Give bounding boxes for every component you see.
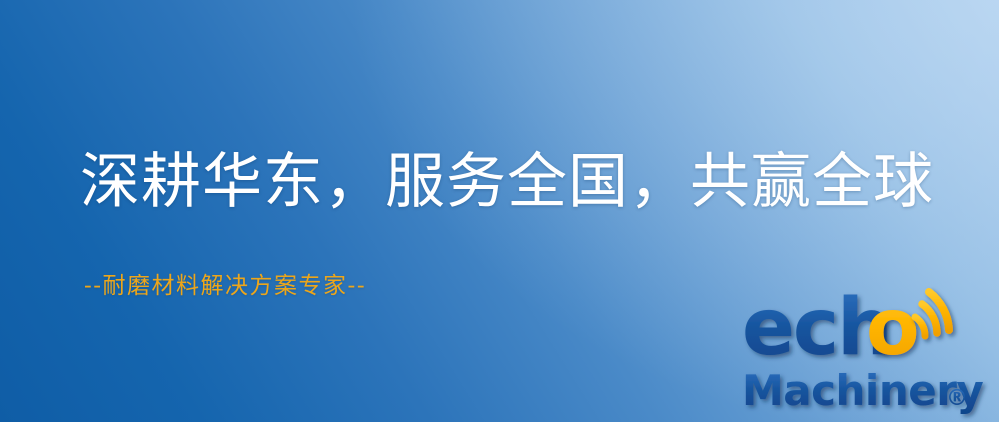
echo-machinery-logo[interactable]: ech o Machinery ® xyxy=(742,292,994,420)
hero-banner: 深耕华东，服务全国，共赢全球 --耐磨材料解决方案专家-- xyxy=(0,0,999,422)
logo-text-o: o xyxy=(866,283,920,373)
subtitle-tagline: --耐磨材料解决方案专家-- xyxy=(84,266,366,300)
logo-wordmark-machinery: Machinery ® xyxy=(742,366,983,415)
logo-svg: ech o Machinery ® xyxy=(742,292,994,420)
logo-letter-o-gold: o xyxy=(866,283,920,373)
headline-text: 深耕华东，服务全国，共赢全球 xyxy=(80,152,934,213)
registered-trademark-icon: ® xyxy=(946,386,968,411)
echo-wave-icon xyxy=(915,292,949,336)
